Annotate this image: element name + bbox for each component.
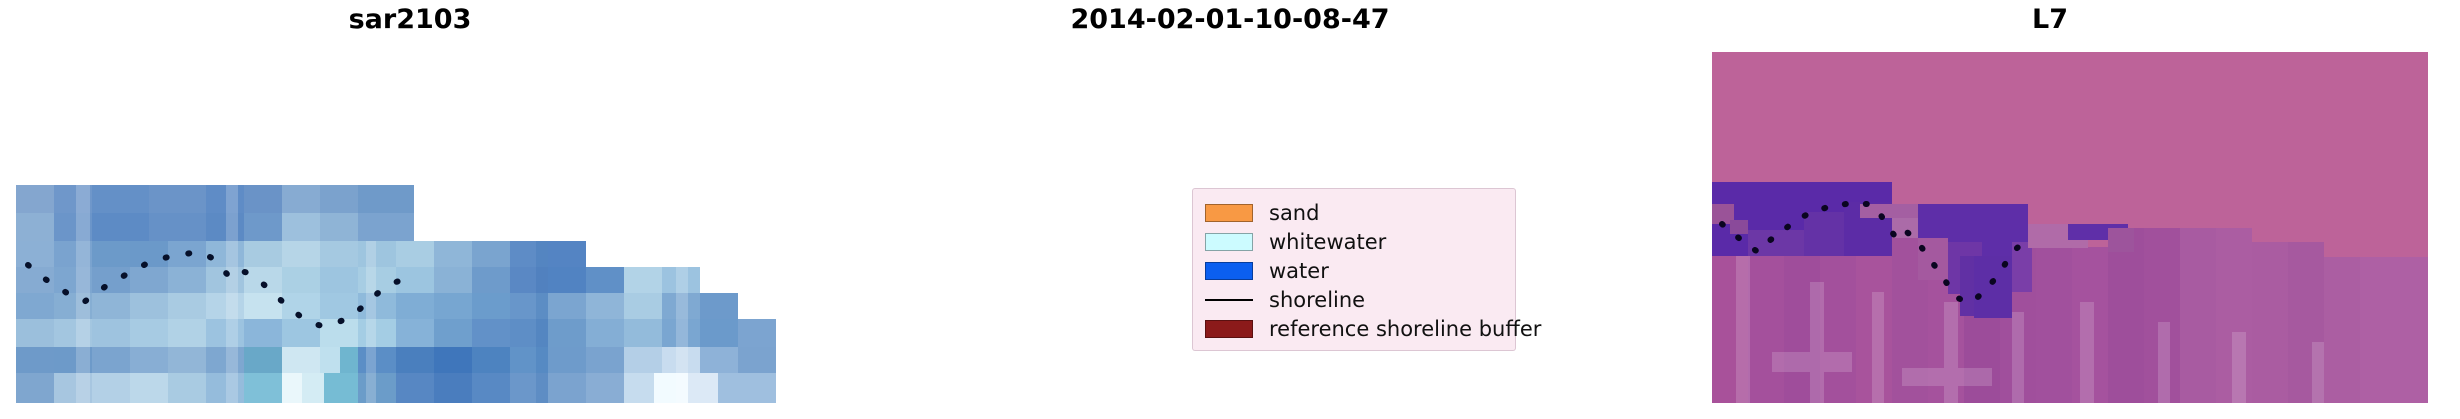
- panel-title-0: sar2103: [0, 4, 820, 36]
- reference-buffer-swatch-icon: [1205, 320, 1253, 338]
- panel-20140201: 2014-02-01-10-08-47: [820, 0, 1640, 419]
- shoreline-line-icon: [1205, 291, 1253, 309]
- legend-label-shoreline: shoreline: [1269, 288, 1365, 312]
- water-swatch-icon: [1205, 262, 1253, 280]
- legend-label-sand: sand: [1269, 201, 1319, 225]
- legend-item-shoreline: shoreline: [1205, 285, 1503, 314]
- figure-root: sar2103: [0, 0, 2460, 419]
- legend-item-reference-buffer: reference shoreline buffer: [1205, 314, 1503, 343]
- legend-item-whitewater: whitewater: [1205, 227, 1503, 256]
- sand-swatch-icon: [1205, 204, 1253, 222]
- legend-label-reference-buffer: reference shoreline buffer: [1269, 317, 1541, 341]
- axes-sar2103: [16, 185, 776, 403]
- panel-sar2103: sar2103: [0, 0, 820, 419]
- legend-item-water: water: [1205, 256, 1503, 285]
- panel-l7: L7: [1640, 0, 2460, 419]
- legend-label-water: water: [1269, 259, 1329, 283]
- panel-title-2: L7: [1640, 4, 2460, 36]
- legend: sand whitewater water shoreline referenc…: [1192, 188, 1516, 351]
- legend-item-sand: sand: [1205, 198, 1503, 227]
- legend-label-whitewater: whitewater: [1269, 230, 1386, 254]
- panel-title-1: 2014-02-01-10-08-47: [820, 4, 1640, 36]
- raster-sar2103: [16, 185, 776, 403]
- whitewater-swatch-icon: [1205, 233, 1253, 251]
